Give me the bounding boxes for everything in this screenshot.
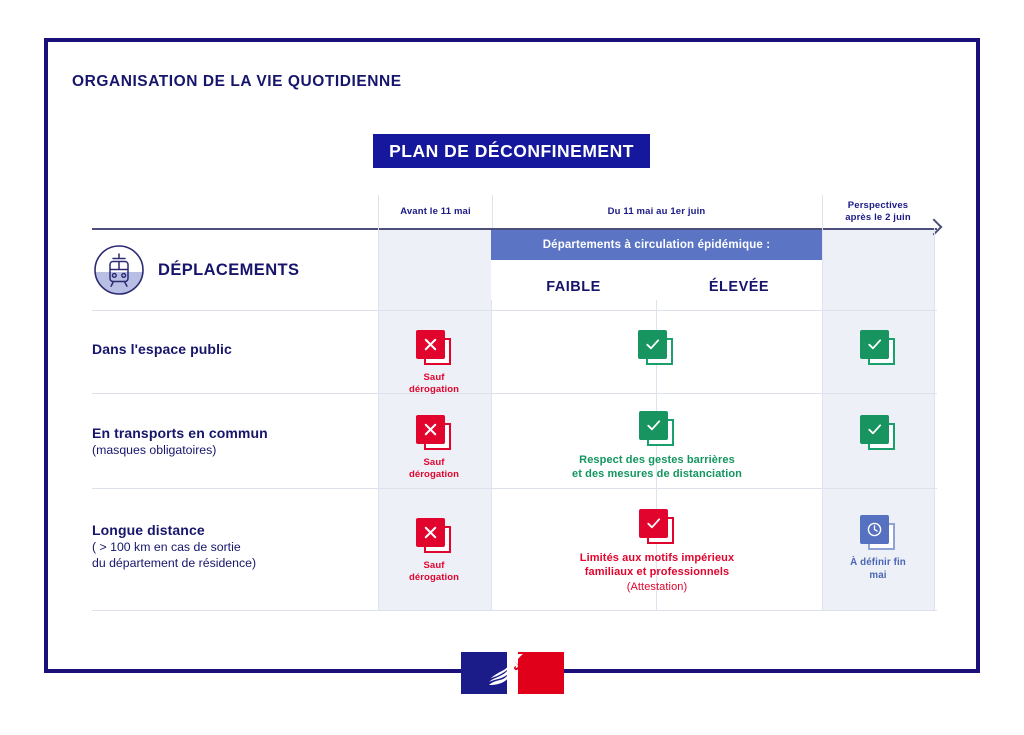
row-subtitle-line1: ( > 100 km en cas de sortie	[92, 539, 362, 555]
red-check-icon	[638, 508, 676, 546]
epidemic-circulation-banner: Départements à circulation épidémique :	[491, 230, 822, 260]
cell-note-line2: familiaux et professionnels	[585, 565, 730, 579]
level-header-elevee: ÉLEVÉE	[656, 274, 822, 300]
cell-note-line1: Limités aux motifs impérieux	[580, 551, 734, 565]
table-row: En transports en commun (masques obligat…	[92, 396, 937, 488]
row-separator-3	[92, 488, 937, 489]
red-cross-icon	[415, 329, 453, 367]
level-header-faible: FAIBLE	[491, 274, 656, 300]
plan-banner: PLAN DE DÉCONFINEMENT	[373, 134, 650, 168]
row-label-longue-distance: Longue distance ( > 100 km en cas de sor…	[92, 522, 362, 571]
cell-note-line1: Respect des gestes barrières	[579, 453, 735, 467]
table-row: Longue distance ( > 100 km en cas de sor…	[92, 491, 937, 610]
marianne-french-republic-logo	[461, 652, 564, 694]
cell-note: À définir fin mai	[847, 557, 909, 582]
green-check-icon	[637, 329, 675, 367]
period-header-after: Perspectives après le 2 juin	[822, 195, 934, 228]
period-header-after-line1: Perspectives	[845, 200, 911, 212]
row-label-espace-public: Dans l'espace public	[92, 341, 362, 357]
cell-after-row2	[847, 414, 909, 452]
cell-before-row3: Sauf dérogation	[402, 517, 466, 585]
green-check-icon	[859, 329, 897, 367]
row-separator-1	[92, 310, 937, 311]
cell-note-line2: et des mesures de distanciation	[572, 467, 742, 481]
tram-icon	[92, 243, 146, 297]
cell-during-row3: Limités aux motifs impérieux familiaux e…	[526, 508, 788, 594]
row-label-transports-commun: En transports en commun (masques obligat…	[92, 425, 362, 458]
cell-before-row2: Sauf dérogation	[402, 414, 466, 482]
row-title: En transports en commun	[92, 425, 362, 441]
cell-note: Sauf dérogation	[402, 560, 466, 585]
row-subtitle-line2: du département de résidence)	[92, 555, 362, 571]
table-row: Dans l'espace public Sauf dérogation	[92, 313, 937, 393]
cell-before-row1: Sauf dérogation	[402, 329, 466, 397]
row-title: Longue distance	[92, 522, 362, 538]
category-label: DÉPLACEMENTS	[158, 261, 299, 280]
cell-during-row2: Respect des gestes barrières et des mesu…	[526, 410, 788, 482]
cell-after-row3: À définir fin mai	[847, 514, 909, 582]
row-subtitle: (masques obligatoires)	[92, 442, 362, 458]
red-cross-icon	[415, 414, 453, 452]
cell-note: Sauf dérogation	[402, 372, 466, 397]
row-separator-4	[92, 610, 937, 611]
green-check-icon	[638, 410, 676, 448]
category-row-deplacements: DÉPLACEMENTS Départements à circulation …	[92, 230, 937, 310]
cell-after-row1	[847, 329, 909, 367]
cell-note-line3: (Attestation)	[627, 580, 688, 594]
cell-during-row1	[625, 329, 687, 367]
period-header-before: Avant le 11 mai	[378, 195, 493, 228]
row-title: Dans l'espace public	[92, 341, 362, 357]
clock-icon	[859, 514, 897, 552]
period-header-after-line2: après le 2 juin	[845, 212, 911, 224]
page-title: ORGANISATION DE LA VIE QUOTIDIENNE	[72, 73, 402, 91]
row-separator-2	[92, 393, 937, 394]
red-cross-icon	[415, 517, 453, 555]
timeline-header: Avant le 11 mai Du 11 mai au 1er juin Pe…	[92, 195, 937, 228]
period-header-during: Du 11 mai au 1er juin	[491, 195, 823, 228]
cell-note: Sauf dérogation	[402, 457, 466, 482]
deconfinement-table: Avant le 11 mai Du 11 mai au 1er juin Pe…	[92, 195, 937, 613]
green-check-icon	[859, 414, 897, 452]
